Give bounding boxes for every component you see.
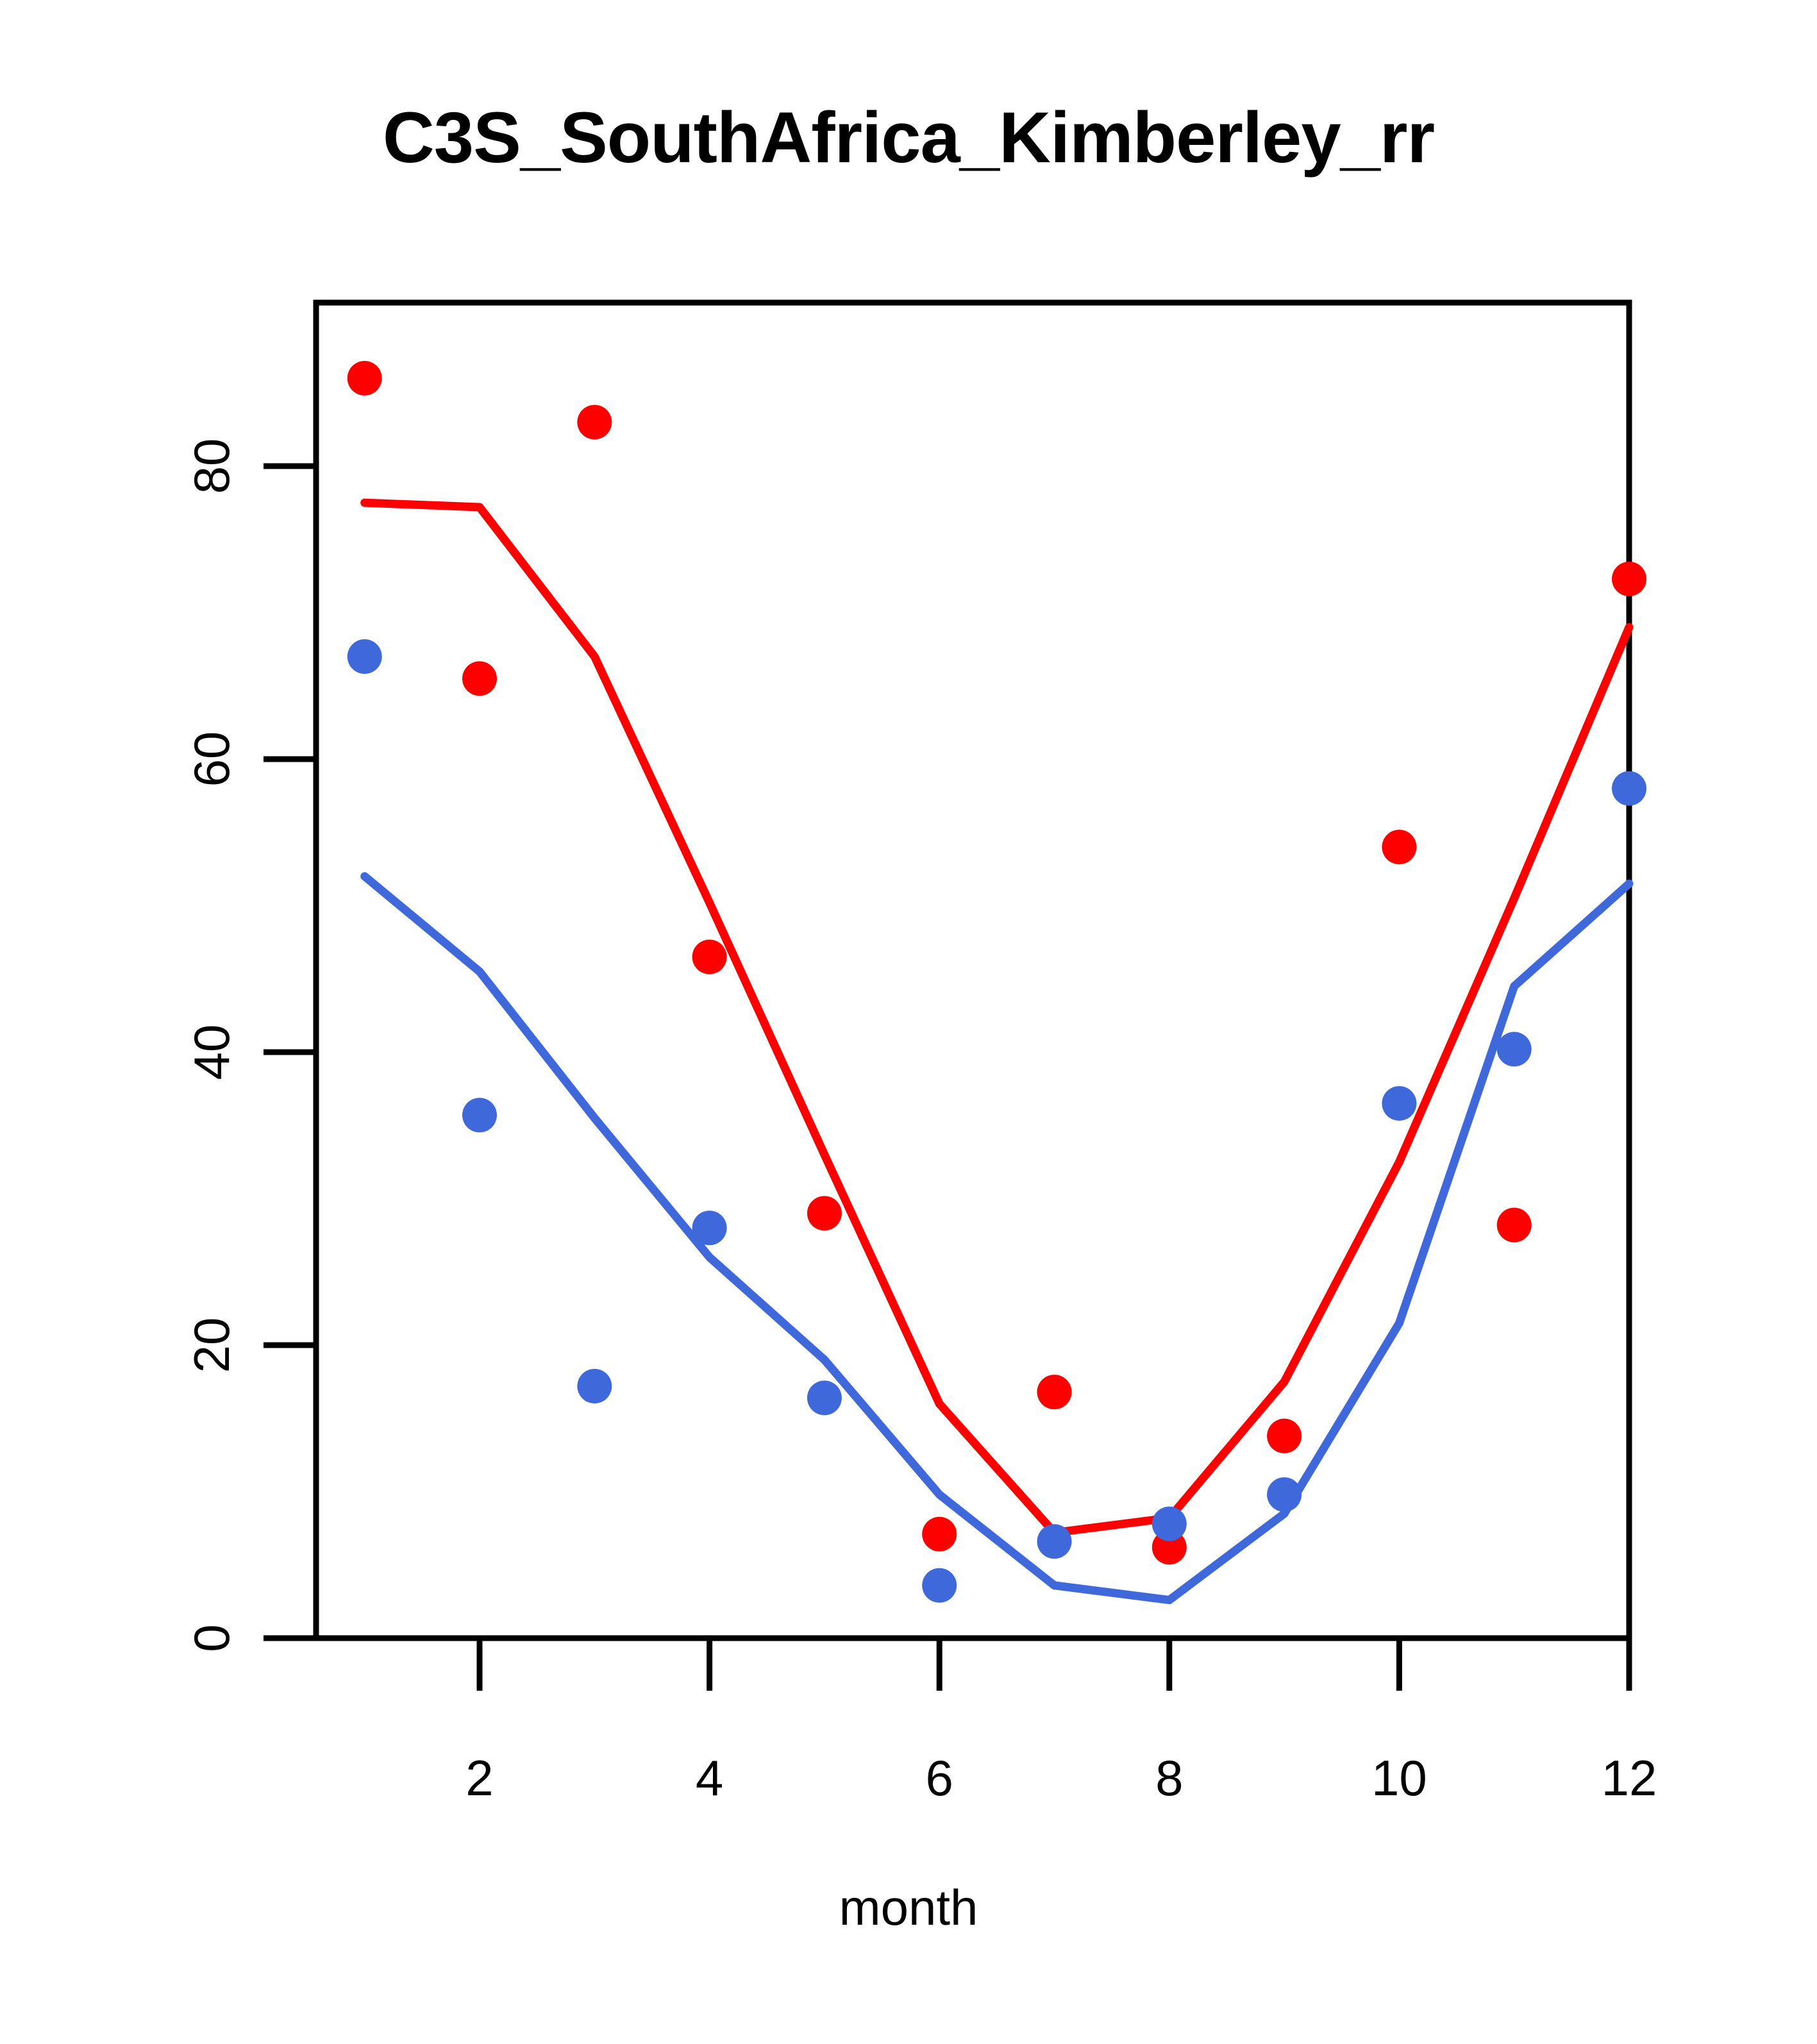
y-tick-label: 60 xyxy=(183,732,240,787)
data-point-blue-points xyxy=(692,1210,727,1245)
data-point-red-points xyxy=(462,661,497,696)
data-point-red-points xyxy=(807,1196,842,1230)
data-point-red-points xyxy=(1037,1375,1072,1409)
data-point-blue-points xyxy=(577,1369,612,1403)
y-tick-label: 40 xyxy=(183,1025,240,1080)
data-point-blue-points xyxy=(1152,1507,1187,1541)
data-point-red-points xyxy=(1267,1419,1302,1453)
data-point-red-points xyxy=(1497,1208,1532,1243)
data-point-blue-points xyxy=(347,639,382,674)
y-axis: 020406080 xyxy=(183,439,314,1652)
plot-area: 24681012 020406080 xyxy=(0,0,1817,2044)
x-axis-label: month xyxy=(0,1879,1817,1937)
data-point-blue-points xyxy=(1612,771,1646,806)
y-tick-label: 20 xyxy=(183,1318,240,1373)
data-point-blue-points xyxy=(1382,1086,1416,1121)
x-tick-label: 4 xyxy=(696,1750,723,1806)
x-axis: 24681012 xyxy=(465,1641,1657,1806)
x-tick-label: 2 xyxy=(465,1750,493,1806)
data-point-blue-points xyxy=(462,1098,497,1132)
data-point-red-points xyxy=(922,1517,957,1552)
data-point-blue-points xyxy=(1037,1524,1072,1559)
data-point-blue-points xyxy=(807,1380,842,1415)
data-point-red-points xyxy=(1382,830,1416,864)
y-tick-label: 80 xyxy=(183,439,240,494)
chart-figure: C3S_SouthAfrica_Kimberley_rr 24681012 02… xyxy=(0,0,1817,2044)
x-tick-label: 8 xyxy=(1155,1750,1183,1806)
data-point-red-points xyxy=(347,361,382,396)
y-tick-label: 0 xyxy=(183,1624,240,1652)
data-point-blue-points xyxy=(922,1568,957,1603)
data-point-red-points xyxy=(1612,562,1646,596)
series-line-blue-line xyxy=(365,876,1629,1600)
data-point-red-points xyxy=(577,405,612,439)
series-layer xyxy=(347,361,1646,1603)
x-tick-label: 10 xyxy=(1371,1750,1427,1806)
x-tick-label: 12 xyxy=(1602,1750,1657,1806)
data-point-blue-points xyxy=(1267,1477,1302,1512)
data-point-red-points xyxy=(692,939,727,974)
series-line-red-line xyxy=(365,503,1629,1532)
x-tick-label: 6 xyxy=(926,1750,953,1806)
data-point-blue-points xyxy=(1497,1032,1532,1066)
